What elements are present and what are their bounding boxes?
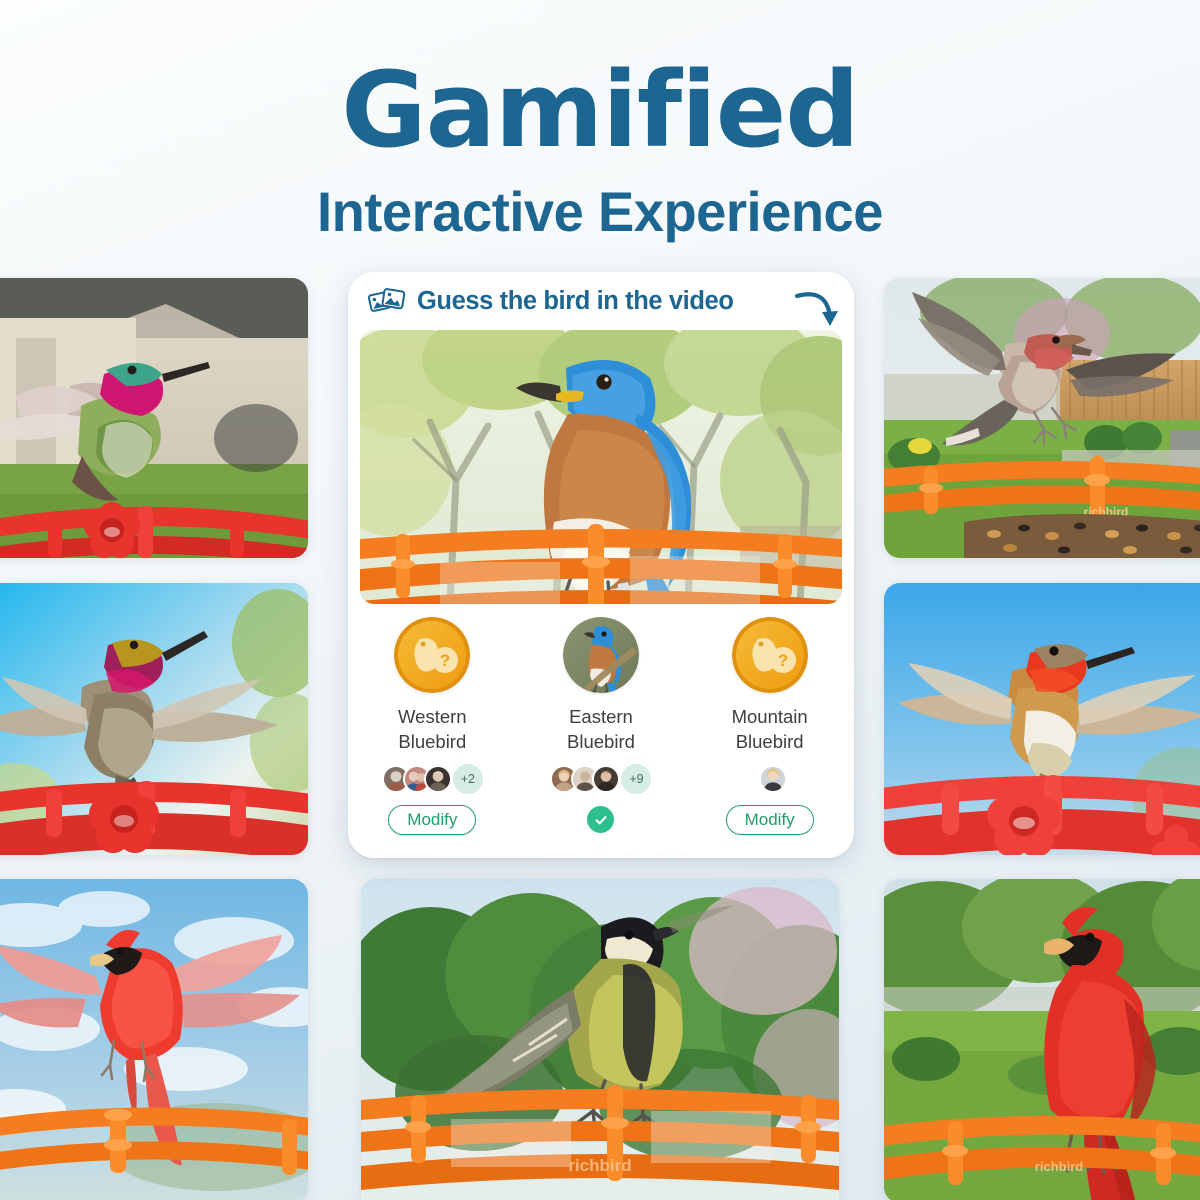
photo-annas-hummingbird	[0, 583, 308, 855]
option-mountain-bluebird[interactable]: ? Mountain Bluebird Modify	[695, 617, 845, 835]
gallery-tile-rufous-hummingbird	[884, 583, 1200, 855]
svg-text:?: ?	[440, 651, 450, 670]
gallery-tile-hummingbird-blue-sky	[0, 583, 308, 855]
guess-the-bird-card: Guess the bird in the video	[348, 272, 854, 858]
photo-northern-cardinal-perched: richbird	[884, 879, 1200, 1200]
option-label: Eastern Bluebird	[567, 705, 635, 755]
photo-great-tit: richbird	[361, 879, 839, 1200]
answer-options: ? Western Bluebird	[348, 617, 854, 835]
photo-house-finch: richbird	[884, 278, 1200, 558]
option-label: Western Bluebird	[398, 705, 467, 755]
photo-rufous-hummingbird	[884, 583, 1200, 855]
page-heading-block: Gamified Interactive Experience	[0, 58, 1200, 240]
option-western-bluebird[interactable]: ? Western Bluebird	[357, 617, 507, 835]
eastern-bluebird-photo	[563, 617, 639, 693]
mystery-bird-coin-icon: ?	[394, 617, 470, 693]
gallery-tile-great-tit: richbird	[361, 879, 839, 1200]
gallery-tile-cardinal-perched: richbird	[884, 879, 1200, 1200]
option-eastern-bluebird[interactable]: Eastern Bluebird +9	[526, 617, 676, 835]
page-subtitle: Interactive Experience	[18, 184, 1182, 240]
gallery-tile-cardinal-flight	[0, 879, 308, 1200]
mystery-bird-coin-icon: ?	[732, 617, 808, 693]
option-label: Mountain Bluebird	[732, 705, 808, 755]
photo-northern-cardinal-flight	[0, 879, 308, 1200]
video-player[interactable]	[360, 330, 842, 604]
modify-button[interactable]: Modify	[726, 805, 814, 835]
photo-cards-icon	[368, 286, 406, 316]
avatar	[592, 765, 620, 793]
option-action	[587, 805, 614, 835]
gallery-tile-house-finch: richbird	[884, 278, 1200, 558]
svg-text:?: ?	[777, 651, 787, 670]
photo-broad-tailed-hummingbird	[0, 278, 308, 558]
avatar	[424, 765, 452, 793]
voter-avatar-stack[interactable]: +9	[550, 765, 651, 793]
selected-check-icon[interactable]	[587, 806, 614, 833]
card-title: Guess the bird in the video	[417, 287, 734, 316]
curved-down-arrow-icon	[792, 282, 846, 336]
option-action: Modify	[726, 805, 814, 835]
avatar	[759, 765, 787, 793]
gallery-tile-hummingbird-house	[0, 278, 308, 558]
svg-text:richbird: richbird	[1035, 1159, 1083, 1174]
feeder-brand-text: richbird	[568, 1156, 631, 1175]
voter-avatar-stack[interactable]	[759, 765, 780, 793]
card-header: Guess the bird in the video	[348, 272, 854, 330]
voter-avatar-stack[interactable]: +2	[382, 765, 483, 793]
voter-more-count[interactable]: +9	[621, 764, 651, 794]
modify-button[interactable]: Modify	[388, 805, 476, 835]
voter-more-count[interactable]: +2	[453, 764, 483, 794]
page-title: Gamified	[0, 58, 1200, 162]
option-action: Modify	[388, 805, 476, 835]
